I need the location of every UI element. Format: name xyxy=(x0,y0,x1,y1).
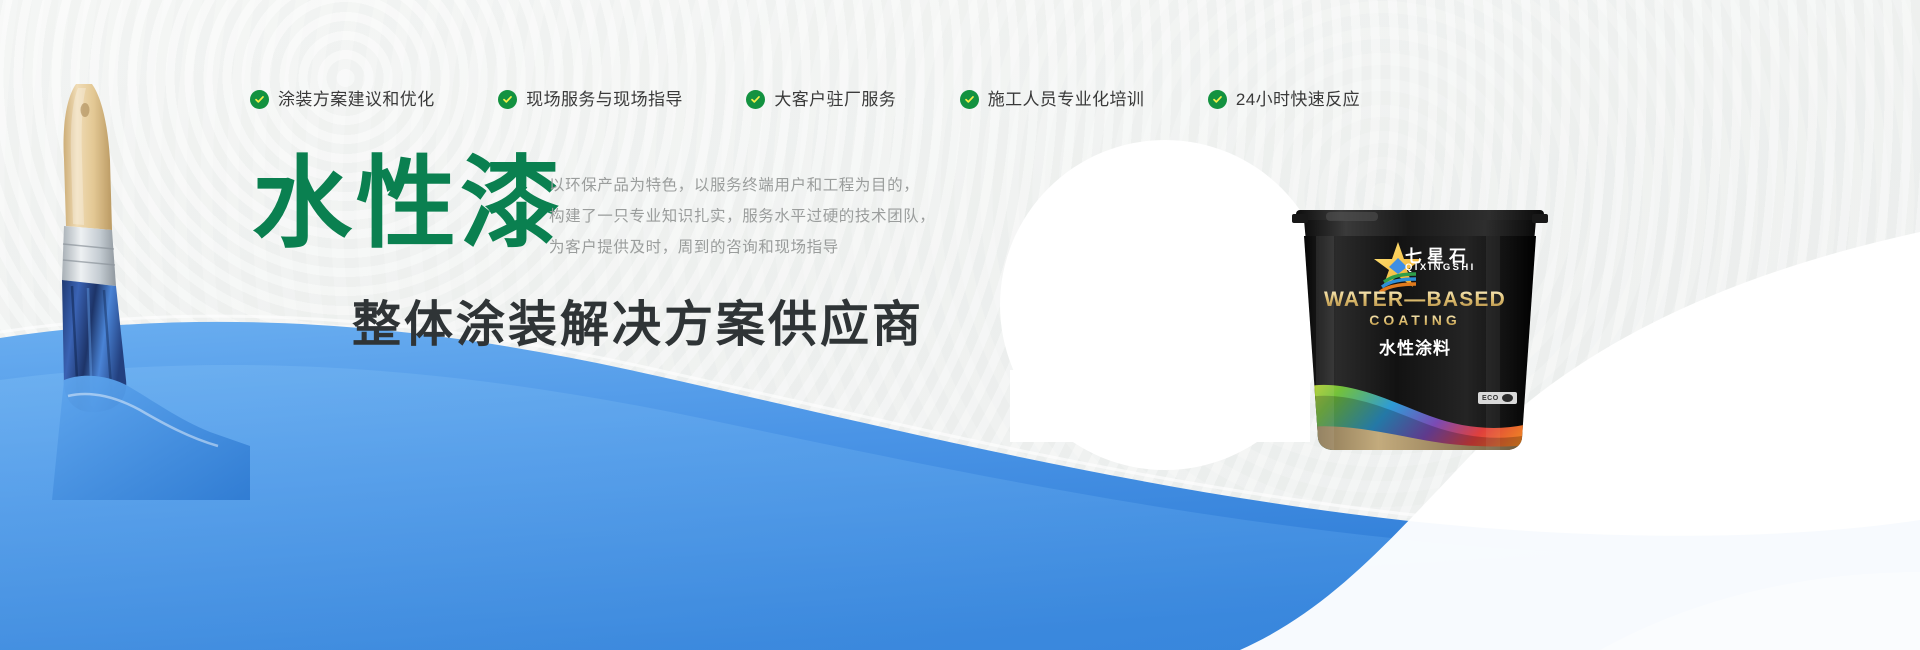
check-circle-icon xyxy=(1208,90,1227,109)
product-brand-en: QIXINGSHI xyxy=(1405,262,1476,273)
description-line-0: 以环保产品为特色，以服务终端用户和工程为目的， xyxy=(549,170,949,201)
feature-label: 现场服务与现场指导 xyxy=(526,91,683,108)
product-title-cn: 水性涂料 xyxy=(1290,334,1540,359)
feature-label: 24小时快速反应 xyxy=(1236,91,1360,108)
eco-badge: ECO xyxy=(1478,392,1517,404)
feature-item-4[interactable]: 24小时快速反应 xyxy=(1208,90,1360,109)
feature-list: 涂装方案建议和优化 现场服务与现场指导 大客户驻厂服务 施工人员专业化培训 24 xyxy=(250,84,1360,114)
product-plate-backdrop xyxy=(1010,370,1310,442)
check-circle-icon xyxy=(960,90,979,109)
feature-item-3[interactable]: 施工人员专业化培训 xyxy=(960,90,1145,109)
headline: 水性漆 xyxy=(252,152,564,257)
eco-label: ECO xyxy=(1482,395,1499,402)
description-paragraph: 以环保产品为特色，以服务终端用户和工程为目的， 构建了一只专业知识扎实，服务水平… xyxy=(549,170,949,263)
feature-label: 施工人员专业化培训 xyxy=(988,91,1145,108)
check-circle-icon xyxy=(746,90,765,109)
hero-banner: 涂装方案建议和优化 现场服务与现场指导 大客户驻厂服务 施工人员专业化培训 24 xyxy=(0,0,1920,650)
check-circle-icon xyxy=(250,90,269,109)
feature-item-1[interactable]: 现场服务与现场指导 xyxy=(498,90,683,109)
description-line-2: 为客户提供及时，周到的咨询和现场指导 xyxy=(549,232,949,263)
product-title-en: WATER—BASED xyxy=(1290,288,1540,312)
check-circle-icon xyxy=(498,90,517,109)
blue-wave-decoration xyxy=(0,220,1920,650)
feature-label: 涂装方案建议和优化 xyxy=(278,91,435,108)
product-subtitle-en: COATING xyxy=(1290,312,1540,328)
subheadline: 整体涂装解决方案供应商 xyxy=(352,285,924,356)
eco-leaf-icon xyxy=(1502,394,1513,402)
paint-brush-illustration xyxy=(40,80,250,500)
description-line-1: 构建了一只专业知识扎实，服务水平过硬的技术团队， xyxy=(549,201,949,232)
feature-label: 大客户驻厂服务 xyxy=(774,91,896,108)
feature-item-0[interactable]: 涂装方案建议和优化 xyxy=(250,90,435,109)
feature-item-2[interactable]: 大客户驻厂服务 xyxy=(746,90,896,109)
